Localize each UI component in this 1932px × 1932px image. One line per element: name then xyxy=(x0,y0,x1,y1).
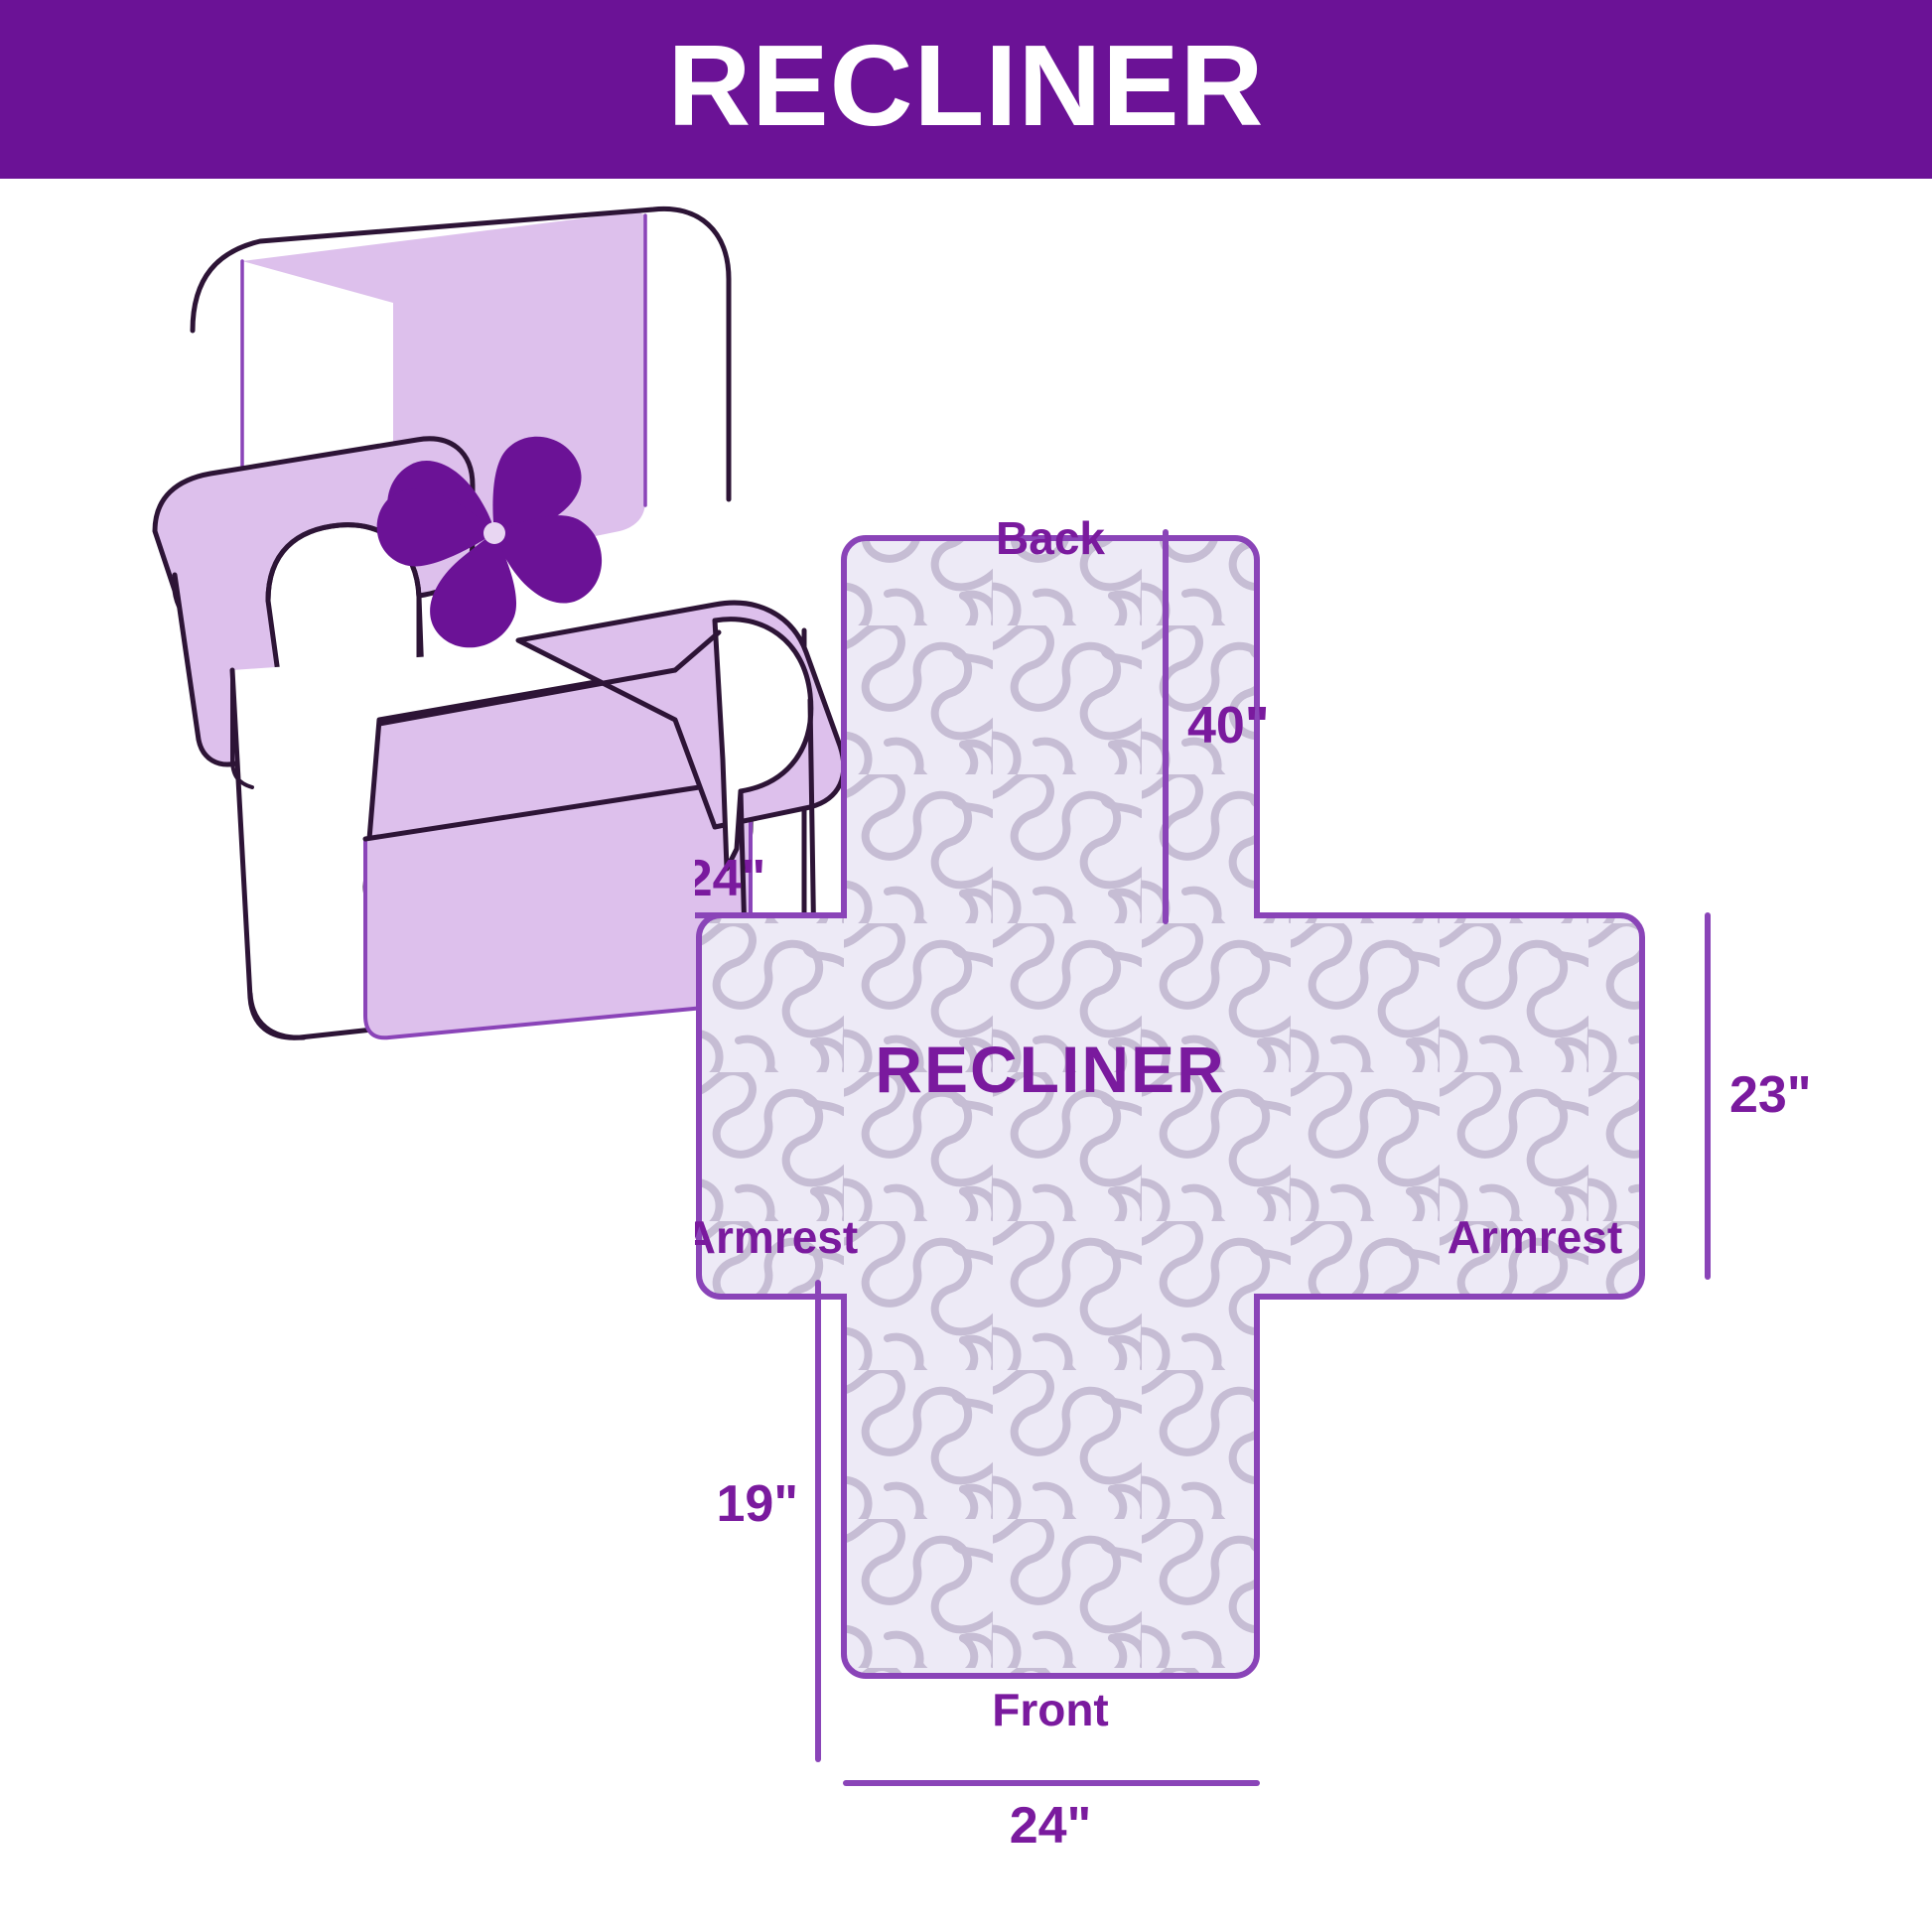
dimension-front-width: 24" xyxy=(846,1783,1257,1855)
dimension-armrest-width: 24" xyxy=(695,850,840,915)
cover-cross-shape xyxy=(699,538,1642,1676)
section-label-armrest-right: Armrest xyxy=(1448,1211,1622,1263)
cover-layout-diagram: Back Armrest Armrest Front RECLINER 40" … xyxy=(695,477,1932,1896)
page-title: RECLINER xyxy=(668,28,1265,143)
section-label-front: Front xyxy=(992,1684,1109,1735)
dimension-value-back-height: 40" xyxy=(1187,697,1270,755)
section-label-back: Back xyxy=(996,512,1105,564)
recliner-cover-size-chart: RECLINER xyxy=(0,0,1932,1932)
section-label-armrest-left: Armrest xyxy=(695,1211,858,1263)
dimension-value-armrest-width: 24" xyxy=(695,850,765,907)
dimension-value-front-width: 24" xyxy=(1010,1797,1092,1855)
header-band: RECLINER xyxy=(0,0,1932,179)
dimension-front-height: 19" xyxy=(717,1283,819,1759)
dimension-armrest-height: 23" xyxy=(1708,915,1812,1277)
dimension-value-armrest-height: 23" xyxy=(1729,1066,1812,1124)
dimension-value-front-height: 19" xyxy=(717,1475,799,1533)
diagram-center-label: RECLINER xyxy=(875,1033,1225,1106)
